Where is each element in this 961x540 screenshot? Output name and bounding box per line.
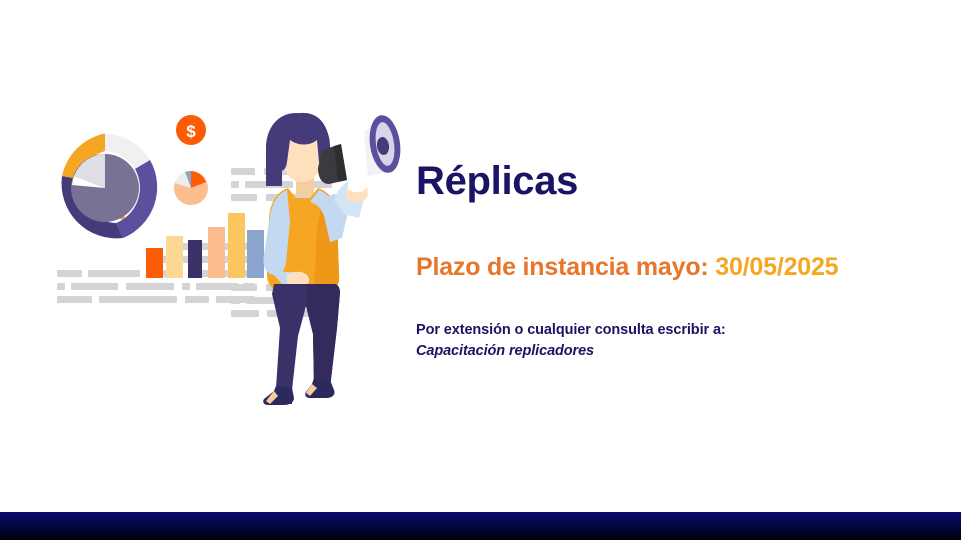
deadline-label: Plazo de instancia mayo:: [416, 253, 709, 281]
bar-5: [228, 213, 245, 278]
deadline-date: 30/05/2025: [715, 253, 838, 281]
bottom-accent-bar: [0, 512, 961, 540]
bar-6: [247, 230, 264, 278]
megaphone-icon: [318, 113, 404, 192]
mini-pie-chart: [174, 171, 208, 205]
bar-2: [166, 236, 183, 278]
svg-text:$: $: [186, 122, 196, 141]
deadline-line: Plazo de instancia mayo: 30/05/2025: [416, 253, 838, 282]
text-block: Réplicas Plazo de instancia mayo: 30/05/…: [416, 160, 936, 202]
donut-chart: [62, 134, 158, 239]
dollar-badge-icon: $: [176, 115, 206, 145]
bar-4: [208, 227, 225, 278]
slide-root: $: [0, 0, 961, 540]
bar-1: [146, 248, 163, 278]
bar-3: [188, 240, 202, 278]
illustration-woman-with-megaphone: $: [38, 88, 408, 408]
contact-note: Por extensión o cualquier consulta escri…: [416, 320, 886, 362]
page-title: Réplicas: [416, 160, 936, 202]
pants-shading: [306, 284, 340, 388]
capacitacion-replicadores-link[interactable]: Capacitación replicadores: [416, 341, 886, 362]
contact-note-line: Por extensión o cualquier consulta escri…: [416, 320, 886, 341]
